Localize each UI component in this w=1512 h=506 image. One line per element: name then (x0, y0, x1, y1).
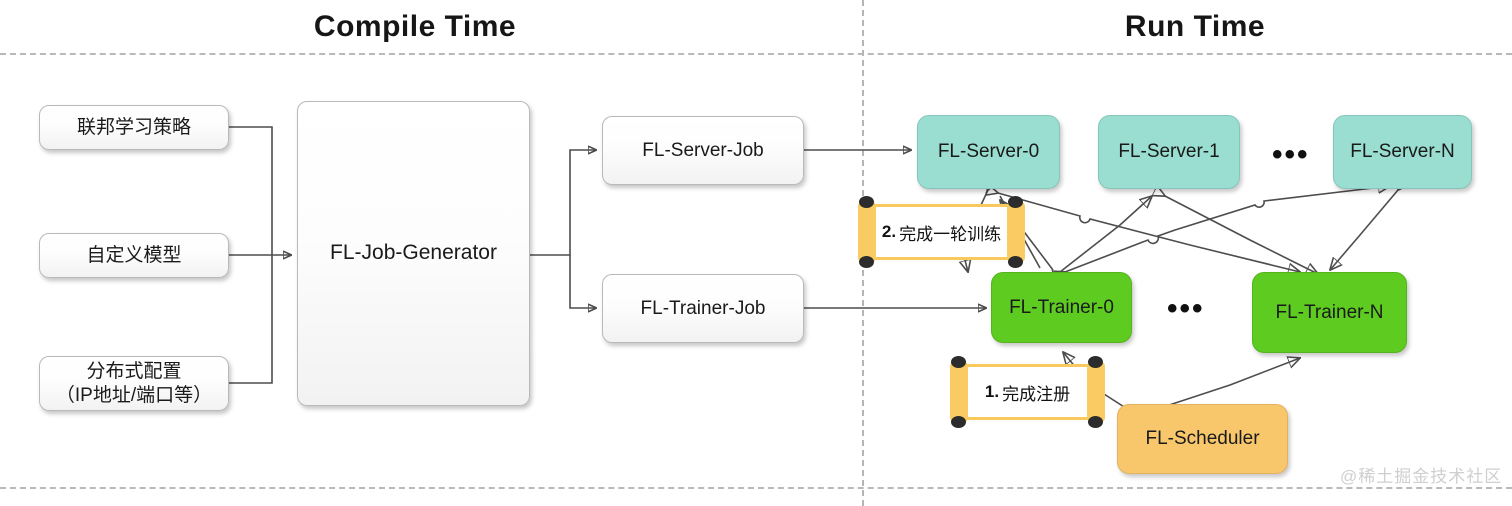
input-box-label: 自定义模型 (86, 244, 181, 268)
fl-server-n-box[interactable]: FL-Server-N (1333, 115, 1472, 189)
fl-server-n-label: FL-Server-N (1350, 140, 1455, 164)
note-registration-number: 1. (985, 382, 999, 402)
note-bar-left (950, 360, 968, 424)
fl-job-generator-label: FL-Job-Generator (330, 240, 497, 266)
note-registration-text: 完成注册 (1002, 380, 1070, 405)
fl-trainer-0-box[interactable]: FL-Trainer-0 (991, 272, 1132, 343)
fl-job-generator-box[interactable]: FL-Job-Generator (297, 101, 530, 406)
fl-server-job-label: FL-Server-Job (642, 139, 763, 163)
diagram-canvas: Compile Time Run Time (0, 0, 1512, 506)
note-round-training-text: 完成一轮训练 (899, 220, 1001, 245)
fl-trainer-n-label: FL-Trainer-N (1275, 301, 1383, 325)
fl-server-job-box[interactable]: FL-Server-Job (602, 116, 804, 185)
note-dot-top-left (859, 196, 874, 208)
note-round-training-frame: 2. 完成一轮训练 (868, 204, 1015, 260)
fl-trainer-job-label: FL-Trainer-Job (641, 297, 766, 321)
fl-trainer-n-box[interactable]: FL-Trainer-N (1252, 272, 1407, 353)
note-dot-bottom-left (951, 416, 966, 428)
note-bar-left (858, 200, 876, 264)
page-title-compile-time: Compile Time (190, 10, 640, 44)
input-box-federated-strategy[interactable]: 联邦学习策略 (39, 105, 229, 150)
fl-scheduler-label: FL-Scheduler (1145, 427, 1259, 451)
fl-server-1-box[interactable]: FL-Server-1 (1098, 115, 1240, 189)
top-divider (0, 53, 1512, 55)
input-box-label: 联邦学习策略 (77, 116, 191, 140)
input-box-label-line1: 分布式配置 (86, 360, 181, 384)
bottom-divider (0, 487, 1512, 489)
note-round-training-number: 2. (882, 222, 896, 242)
note-dot-bottom-right (1008, 256, 1023, 268)
input-box-custom-model[interactable]: 自定义模型 (39, 233, 229, 278)
note-dot-bottom-left (859, 256, 874, 268)
fl-server-1-label: FL-Server-1 (1118, 140, 1219, 164)
servers-ellipsis: ••• (1272, 140, 1310, 170)
note-bar-right (1087, 360, 1105, 424)
note-registration[interactable]: 1. 完成注册 (950, 356, 1105, 428)
fl-trainer-job-box[interactable]: FL-Trainer-Job (602, 274, 804, 343)
note-dot-top-right (1008, 196, 1023, 208)
page-title-run-time: Run Time (970, 10, 1420, 44)
note-dot-bottom-right (1088, 416, 1103, 428)
trainers-ellipsis: ••• (1167, 294, 1205, 324)
note-round-training[interactable]: 2. 完成一轮训练 (858, 196, 1025, 268)
input-box-label-line2: （IP地址/端口等） (56, 384, 212, 408)
watermark: @稀土掘金技术社区 (1340, 462, 1502, 487)
note-dot-top-right (1088, 356, 1103, 368)
note-registration-frame: 1. 完成注册 (960, 364, 1095, 420)
input-box-distributed-config[interactable]: 分布式配置 （IP地址/端口等） (39, 356, 229, 411)
fl-trainer-0-label: FL-Trainer-0 (1009, 296, 1114, 320)
note-dot-top-left (951, 356, 966, 368)
fl-scheduler-box[interactable]: FL-Scheduler (1117, 404, 1288, 474)
note-bar-right (1007, 200, 1025, 264)
fl-server-0-label: FL-Server-0 (938, 140, 1039, 164)
fl-server-0-box[interactable]: FL-Server-0 (917, 115, 1060, 189)
